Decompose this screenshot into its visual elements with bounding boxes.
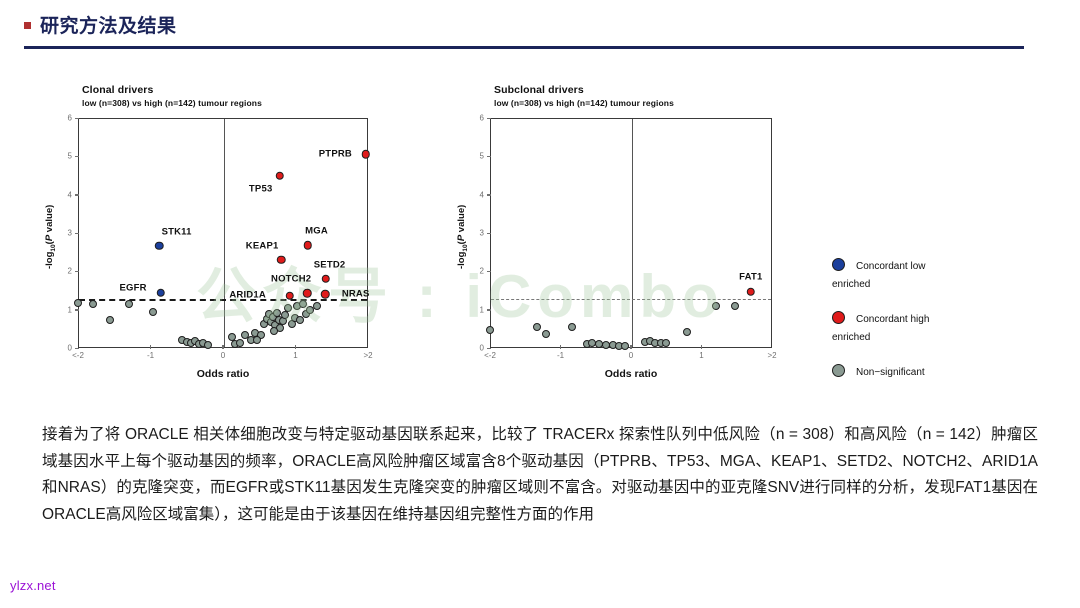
x-tick-label: 0 (629, 351, 633, 360)
data-point-stk11 (155, 241, 164, 250)
y-tick-mark (487, 194, 491, 195)
figure-legend: Concordant low enrichedConcordant high e… (832, 256, 1022, 401)
header-divider (24, 46, 1024, 49)
legend-swatch-concordant-high (832, 311, 845, 324)
gene-label-notch2: NOTCH2 (271, 274, 311, 285)
y-tick-mark (487, 233, 491, 234)
y-tick-mark (487, 309, 491, 310)
legend-swatch-non-significant (832, 364, 845, 377)
data-point-non-significant (712, 302, 720, 310)
data-point-keap1 (277, 256, 286, 265)
gene-label-ptprb: PTPRB (319, 149, 352, 160)
data-point-non-significant (568, 323, 576, 331)
data-point-arid1a (285, 292, 294, 301)
data-point-setd2 (322, 274, 331, 283)
y-tick-mark (487, 118, 491, 119)
x-tick-label: 1 (699, 351, 703, 360)
page-title: 研究方法及结果 (40, 11, 177, 38)
gene-label-fat1: FAT1 (739, 272, 762, 283)
data-point-non-significant (683, 328, 691, 336)
header-bullet-icon (24, 22, 31, 29)
x-tick-mark (560, 345, 561, 349)
legend-item-concordant-low: Concordant low enriched (832, 256, 1022, 292)
data-point-fat1 (747, 287, 756, 296)
data-point-non-significant (662, 339, 670, 347)
gene-label-stk11: STK11 (162, 226, 192, 237)
x-tick-mark (630, 345, 631, 349)
gene-label-mga: MGA (305, 226, 328, 237)
y-axis-title-subclonal: -log10(P value) (456, 205, 469, 269)
legend-item-non-significant: Non−significant (832, 362, 1022, 384)
data-point-egfr (156, 289, 165, 298)
legend-item-concordant-high: Concordant high enriched (832, 309, 1022, 345)
y-tick-label: 2 (468, 267, 484, 276)
data-point-non-significant (486, 326, 494, 334)
y-tick-label: 1 (468, 305, 484, 314)
significance-threshold-line-subclonal (491, 299, 771, 300)
chart-title-subclonal: Subclonal drivers (494, 84, 584, 96)
data-point-non-significant (533, 323, 541, 331)
gene-label-setd2: SETD2 (314, 260, 346, 271)
data-point-non-significant (731, 302, 739, 310)
y-tick-mark (487, 348, 491, 349)
gene-label-keap1: KEAP1 (246, 241, 279, 252)
x-tick-label: >2 (767, 351, 776, 360)
chart-subtitle-subclonal: low (n=308) vs high (n=142) tumour regio… (494, 98, 674, 108)
y-tick-label: 4 (468, 190, 484, 199)
zero-reference-line-subclonal (632, 119, 633, 347)
plot-area-subclonal (490, 118, 772, 348)
legend-label-concordant-high: Concordant high enriched (832, 314, 929, 343)
y-tick-label: 5 (468, 152, 484, 161)
data-point-notch2 (303, 289, 312, 298)
legend-swatch-concordant-low (832, 258, 845, 271)
slide-header: 研究方法及结果 (0, 0, 1080, 50)
gene-label-nras: NRAS (342, 288, 370, 299)
gene-label-arid1a: ARID1A (229, 290, 266, 301)
y-tick-label: 3 (468, 229, 484, 238)
data-point-non-significant (621, 342, 629, 350)
data-point-tp53 (275, 171, 284, 180)
legend-label-concordant-low: Concordant low enriched (832, 261, 925, 290)
x-axis-title-subclonal: Odds ratio (605, 368, 658, 380)
gene-label-egfr: EGFR (119, 282, 146, 293)
y-tick-label: 6 (468, 114, 484, 123)
x-tick-label: -1 (557, 351, 564, 360)
figure-volcano-plots: Clonal driverslow (n=308) vs high (n=142… (0, 70, 1080, 400)
data-point-ptprb (362, 150, 371, 159)
data-point-mga (304, 241, 313, 250)
y-tick-mark (487, 271, 491, 272)
body-paragraph: 接着为了将 ORACLE 相关体细胞改变与特定驱动基因联系起来，比较了 TRAC… (42, 422, 1038, 529)
y-tick-mark (487, 156, 491, 157)
data-point-nras (321, 290, 330, 299)
x-tick-mark (701, 345, 702, 349)
data-point-non-significant (542, 330, 550, 338)
gene-label-tp53: TP53 (249, 184, 273, 195)
x-tick-label: <-2 (484, 351, 496, 360)
corner-watermark: ylzx.net (10, 578, 56, 593)
y-tick-label: 0 (468, 344, 484, 353)
legend-label-non-significant: Non−significant (856, 367, 925, 378)
